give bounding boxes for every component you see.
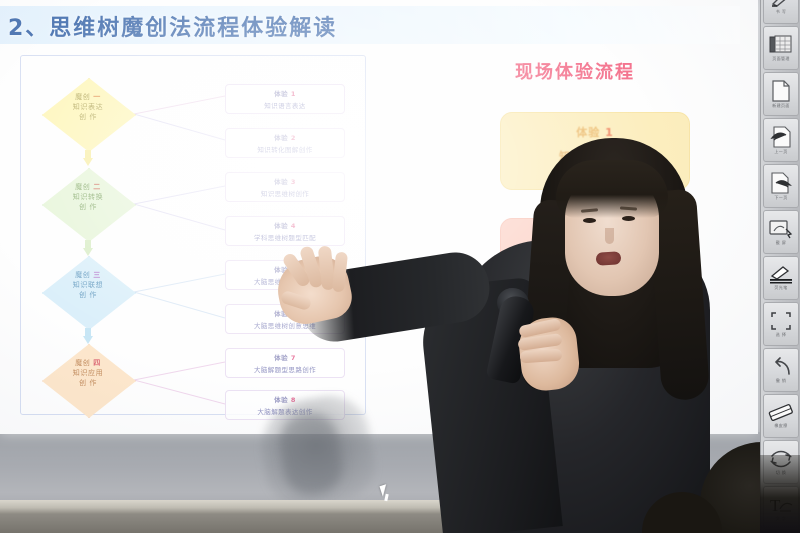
pages-grid-icon[interactable]: 页面管理 — [763, 26, 799, 70]
flow-node-2-num: 二 — [93, 183, 101, 191]
toolbar-caption: 页面管理 — [772, 56, 790, 62]
experience-item-4-title: 体验 4 — [226, 220, 344, 230]
flow-node-4-label: 魔创 四 知识应用 创 作 — [42, 358, 134, 388]
screenshot-root: 2、思维树魔创法流程体验解读 魔创 一 知识表达 创 作 — [0, 0, 800, 533]
presenter-nose — [605, 228, 614, 244]
next-page-icon[interactable]: 下一页 — [763, 164, 799, 208]
flow-node-4-line2: 知识应用 — [42, 368, 134, 378]
experience-label: 体验 — [274, 134, 288, 142]
flow-node-4-num: 四 — [93, 359, 101, 367]
experience-item-3-desc: 知识思维树创作 — [226, 188, 344, 198]
flow-node-3-label: 魔创 三 知识联想 创 作 — [42, 270, 134, 300]
flow-arrow-2-3 — [83, 240, 93, 256]
presenter-fringe — [556, 160, 668, 218]
experience-label: 体验 — [274, 90, 288, 98]
experience-item-4[interactable]: 体验 4 学科思维树题型匹配 — [225, 216, 345, 246]
flow-node-2-line1: 魔创 — [75, 183, 90, 191]
experience-item-2[interactable]: 体验 2 知识转化图解创作 — [225, 128, 345, 158]
flow-node-2-line3: 创 作 — [42, 202, 134, 212]
arrow-head — [83, 158, 93, 166]
experience-item-1-desc: 知识语言表达 — [226, 100, 344, 110]
undo-icon[interactable]: 撤 销 — [763, 348, 799, 392]
toolbar-caption: 荧光笔 — [774, 285, 787, 291]
flow-node-1-line3: 创 作 — [42, 112, 134, 122]
experience-item-3-title: 体验 3 — [226, 176, 344, 186]
flow-node-2-label: 魔创 二 知识转换 创 作 — [42, 182, 134, 212]
experience-num: 4 — [291, 222, 296, 230]
new-page-icon[interactable]: 新建页面 — [763, 72, 799, 116]
experience-label: 体验 — [274, 222, 288, 230]
flow-arrow-1-2 — [83, 150, 93, 166]
flow-node-1-line2: 知识表达 — [42, 102, 134, 112]
highlighter-icon[interactable]: 荧光笔 — [763, 256, 799, 300]
experience-label: 体验 — [274, 178, 288, 186]
experience-num: 7 — [291, 354, 296, 362]
experience-item-3[interactable]: 体验 3 知识思维树创作 — [225, 172, 345, 202]
toolbar-caption: 选 择 — [776, 332, 786, 338]
flow-node-2[interactable]: 魔创 二 知识转换 创 作 — [42, 168, 134, 240]
presenter-eye-right — [622, 216, 635, 221]
flow-node-3-line2: 知识联想 — [42, 280, 134, 290]
experience-label: 体验 — [274, 396, 288, 404]
experience-num: 1 — [291, 90, 296, 98]
toolbar-caption: 上一页 — [774, 149, 787, 155]
flow-node-4-line1: 魔创 — [75, 359, 90, 367]
experience-num: 2 — [291, 134, 296, 142]
toolbar-caption: 截 屏 — [776, 240, 786, 246]
eraser-icon[interactable]: 橡皮擦 — [763, 394, 799, 438]
flow-node-1-line1: 魔创 — [75, 93, 90, 101]
flow-node-3-line1: 魔创 — [75, 271, 90, 279]
pen-top-icon[interactable]: 书 写 — [763, 0, 799, 24]
experience-item-7[interactable]: 体验 7 大脑解题型思路创作 — [225, 348, 345, 378]
experience-item-4-desc: 学科思维树题型匹配 — [226, 232, 344, 242]
page-title: 2、思维树魔创法流程体验解读 — [8, 10, 337, 42]
panel-box-1-line1: 体验 1 — [501, 124, 689, 140]
flow-arrow-3-4 — [83, 328, 93, 344]
arrow-head — [83, 336, 93, 344]
toolbar-caption: 新建页面 — [772, 103, 790, 109]
experience-item-2-desc: 知识转化图解创作 — [226, 144, 344, 154]
flow-node-3-line3: 创 作 — [42, 290, 134, 300]
flow-node-1-label: 魔创 一 知识表达 创 作 — [42, 92, 134, 122]
experience-item-1[interactable]: 体验 1 知识语言表达 — [225, 84, 345, 114]
toolbar-caption: 橡皮擦 — [774, 423, 787, 429]
experience-item-7-desc: 大脑解题型思路创作 — [226, 364, 344, 374]
toolbar-caption: 撤 销 — [776, 378, 786, 384]
experience-item-7-title: 体验 7 — [226, 352, 344, 362]
experience-label: 体验 — [274, 354, 288, 362]
toolbar-caption: 下一页 — [774, 195, 787, 201]
arrow-head — [83, 248, 93, 256]
toolbar-caption: 书 写 — [776, 9, 786, 15]
flow-node-3-num: 三 — [93, 271, 101, 279]
flow-node-2-line2: 知识转换 — [42, 192, 134, 202]
right-panel-heading: 现场体验流程 — [515, 58, 635, 84]
interactive-whiteboard-toolbar[interactable]: 书 写 页面管理 新建页面 上一页 下一页 截 屏 荧光笔 选 — [760, 0, 800, 533]
flow-node-1-num: 一 — [93, 93, 101, 101]
flow-node-3[interactable]: 魔创 三 知识联想 创 作 — [42, 256, 134, 328]
flow-node-4-line3: 创 作 — [42, 378, 134, 388]
experience-item-2-title: 体验 2 — [226, 132, 344, 142]
flow-node-4[interactable]: 魔创 四 知识应用 创 作 — [42, 344, 134, 416]
flow-node-1[interactable]: 魔创 一 知识表达 创 作 — [42, 78, 134, 150]
toolbar-occlusion — [760, 455, 800, 533]
crop-select-icon[interactable]: 选 择 — [763, 302, 799, 346]
experience-num: 3 — [291, 178, 296, 186]
screen-capture-icon[interactable]: 截 屏 — [763, 210, 799, 254]
panel-box-label: 体验 — [576, 126, 600, 139]
presenter-mouth — [596, 251, 622, 266]
experience-item-1-title: 体验 1 — [226, 88, 344, 98]
presenter-eye-left — [583, 218, 596, 223]
prev-page-icon[interactable]: 上一页 — [763, 118, 799, 162]
